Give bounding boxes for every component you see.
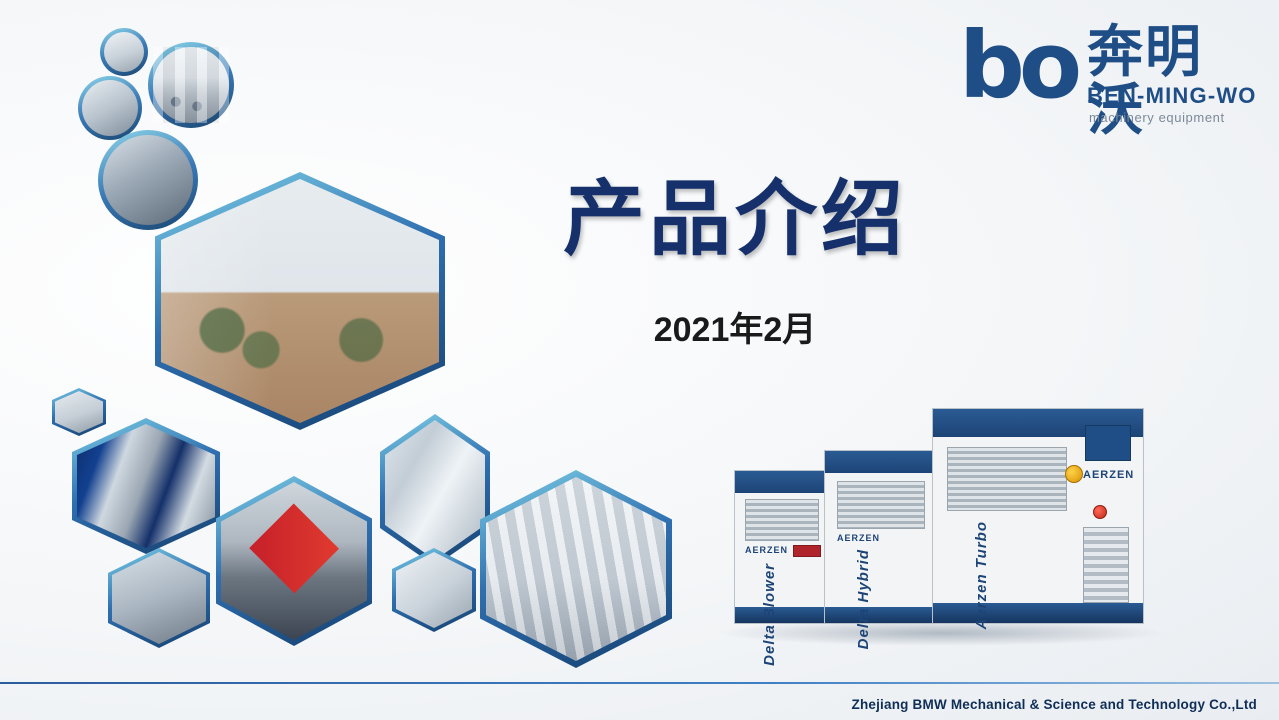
footer-company-name: Zhejiang BMW Mechanical & Science and Te… <box>852 697 1258 712</box>
unit-3-stop-button[interactable] <box>1093 505 1107 519</box>
logo-mark-icon: bo <box>959 20 1076 112</box>
unit-1-indicator <box>793 545 821 557</box>
unit-1-brand: AERZEN <box>745 545 788 555</box>
circle-photo-3 <box>82 80 138 136</box>
page-subtitle: 2021年2月 <box>520 308 950 352</box>
unit-3-grille <box>947 447 1067 511</box>
unit-1-grille <box>745 499 819 541</box>
unit-3-emergency-knob[interactable] <box>1065 465 1083 483</box>
footer-divider <box>0 682 1279 684</box>
slide-root: bo 奔明沃 BEN-MING-WO machinery equipment 产… <box>0 0 1279 720</box>
unit-2-base <box>825 607 935 623</box>
unit-1-label: Delta Blower <box>761 563 778 666</box>
company-logo: bo 奔明沃 BEN-MING-WO machinery equipment <box>959 18 1259 133</box>
unit-2-cap <box>825 451 935 473</box>
machine-unit-1: AERZEN Delta Blower <box>734 470 828 624</box>
logo-english-name: BEN-MING-WO <box>1087 84 1257 108</box>
circle-photo-4 <box>103 135 193 225</box>
machine-unit-3: AERZEN Aerzen Turbo <box>932 408 1144 624</box>
circle-photo-1 <box>104 32 144 72</box>
unit-2-label: Delta Hybrid <box>855 549 872 649</box>
unit-1-base <box>735 607 827 623</box>
page-title: 产品介绍 <box>520 172 950 268</box>
machine-illustration: AERZEN Delta Blower AERZEN Delta Hybrid … <box>706 388 1176 648</box>
unit-2-brand: AERZEN <box>837 533 880 543</box>
circle-photo-2 <box>153 47 229 123</box>
unit-3-brand: AERZEN <box>1083 469 1134 481</box>
logo-tagline: machinery equipment <box>1089 110 1225 125</box>
unit-2-grille <box>837 481 925 529</box>
unit-3-label: Aerzen Turbo <box>973 521 990 629</box>
unit-3-side-grille <box>1083 527 1129 603</box>
unit-3-base <box>933 603 1143 623</box>
machine-unit-2: AERZEN Delta Hybrid <box>824 450 936 624</box>
unit-3-hmi-screen[interactable] <box>1085 425 1131 461</box>
unit-1-cap <box>735 471 827 493</box>
